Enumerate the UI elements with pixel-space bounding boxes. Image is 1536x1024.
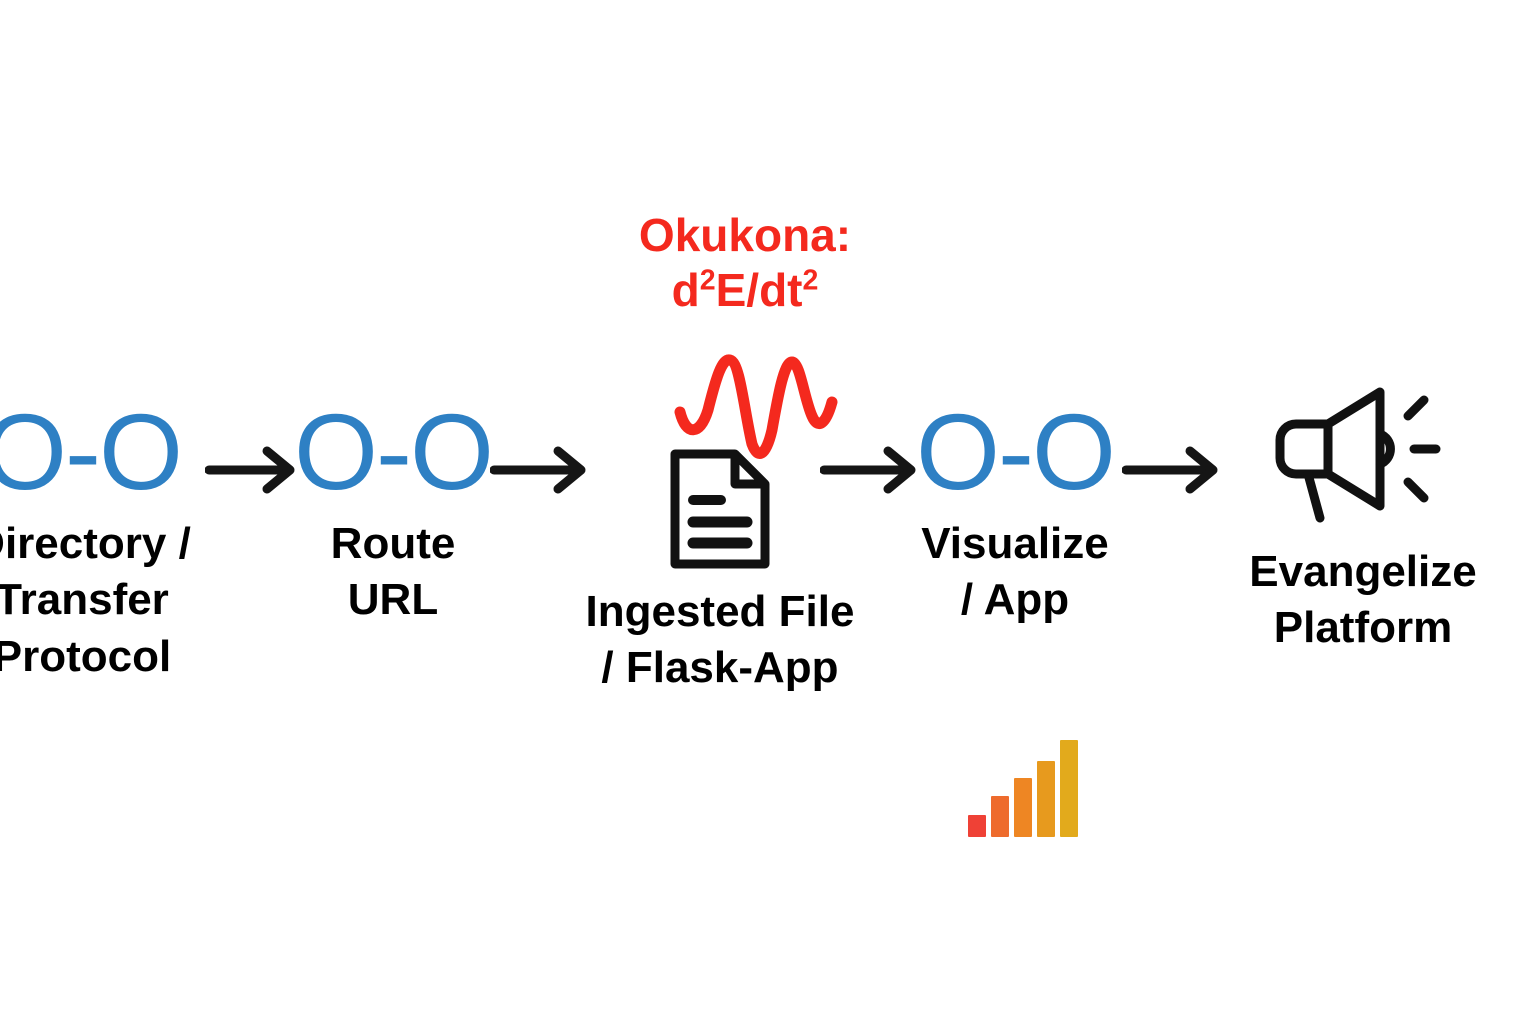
- bar-chart-bar: [968, 815, 986, 837]
- bar-chart-bar: [991, 796, 1009, 837]
- formula-mid: E/dt: [716, 264, 803, 316]
- step-label-directory-transfer-protocol: Directory / Transfer Protocol: [0, 516, 191, 685]
- formula-sup-2: 2: [803, 265, 819, 297]
- okukona-annotation: Okukona: d2E/dt2: [585, 208, 905, 318]
- formula-sup-1: 2: [700, 265, 716, 297]
- bar-chart-bar: [1060, 740, 1078, 837]
- bar-chart: [968, 735, 1078, 837]
- step-label-evangelize-platform: Evangelize Platform: [1249, 544, 1476, 657]
- annotation-label: Okukona:: [585, 208, 905, 263]
- step-visualize-app[interactable]: O-O Visualize / App: [900, 398, 1130, 629]
- step-route-url[interactable]: O-O Route URL: [283, 398, 503, 629]
- step-label-ingested-file-flask-app: Ingested File / Flask-App: [586, 584, 855, 697]
- step-label-route-url: Route URL: [331, 516, 456, 629]
- formula-base-1: d: [672, 264, 700, 316]
- arrow-right-icon: [1122, 440, 1232, 500]
- oo-link-icon: O-O: [0, 398, 181, 506]
- step-directory-transfer-protocol[interactable]: O-O Directory / Transfer Protocol: [0, 398, 202, 685]
- step-label-visualize-app: Visualize / App: [921, 516, 1109, 629]
- oo-link-icon: O-O: [294, 398, 492, 506]
- megaphone-icon: [1268, 378, 1458, 528]
- megaphone-icon-wrap: [1268, 378, 1458, 528]
- document-icon-wrap: [665, 448, 775, 570]
- bar-chart-bar: [1014, 778, 1032, 837]
- step-evangelize-platform[interactable]: Evangelize Platform: [1218, 378, 1508, 657]
- diagram-canvas: O-O Directory / Transfer Protocol O-O Ro…: [0, 0, 1536, 1024]
- annotation-formula: d2E/dt2: [585, 263, 905, 318]
- arrow-4: [1122, 440, 1232, 505]
- document-icon: [665, 448, 775, 570]
- oo-link-icon: O-O: [916, 398, 1114, 506]
- waveform-icon: [672, 352, 840, 462]
- bar-chart-bar: [1037, 761, 1055, 838]
